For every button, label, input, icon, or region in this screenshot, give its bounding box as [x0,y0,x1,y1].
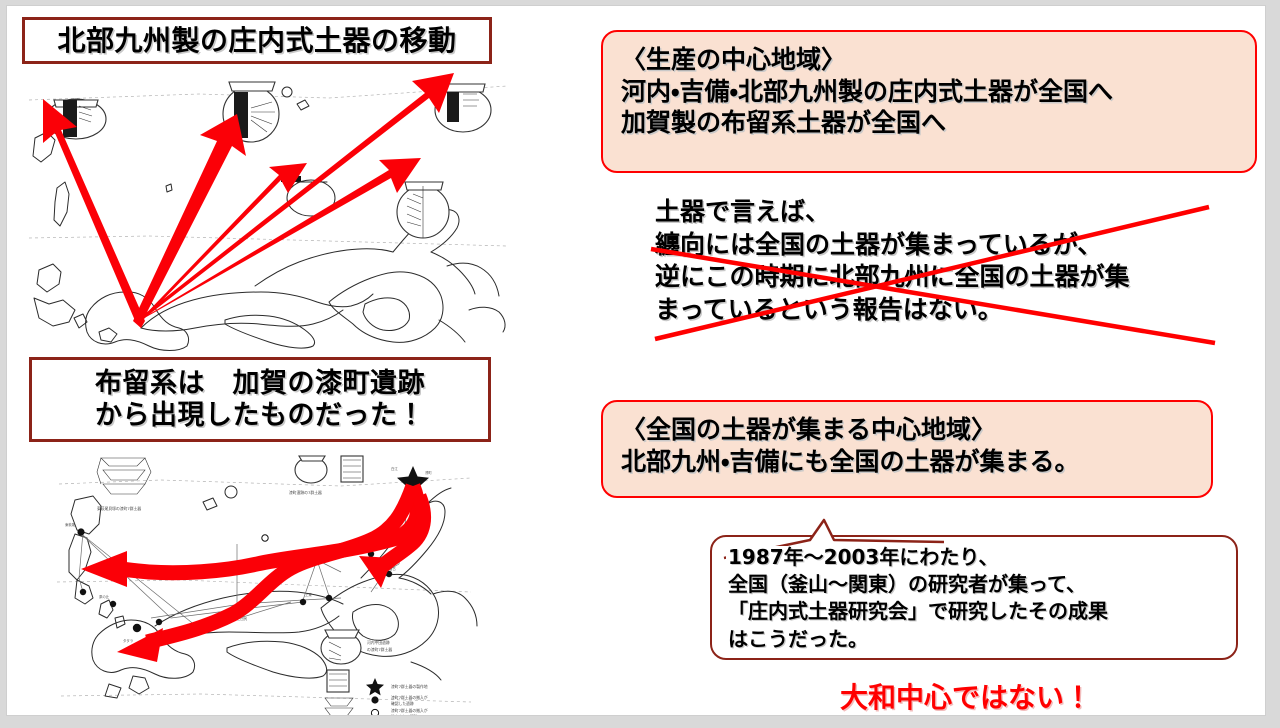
map-furu-pottery-origin: 東萩尾 原の辻 タタラ 三田尻 妻木晩田 上東 和鹿 西口 唐古 漆町 白江 東… [41,452,485,715]
callout-research-history: 1987年〜2003年にわたり、 全国（釜山〜関東）の研究者が集って、 「庄内式… [710,522,1238,660]
legend-label-0: 漆町7群土器の製作地 [391,684,428,689]
title-1-text: 北部九州製の庄内式土器の移動 [57,24,456,57]
struck-line-3: 逆にこの時期に北部九州に全国の土器が集 [655,261,1255,294]
callout-line-2: 全国（釜山〜関東）の研究者が集って、 [728,571,1228,598]
svg-text:上東: 上東 [305,592,312,597]
svg-text:漆町: 漆町 [425,470,432,475]
title-2-line-1: 布留系は 加賀の漆町遺跡 [95,368,425,400]
title-box-shonai-movement: 北部九州製の庄内式土器の移動 [22,17,492,64]
svg-text:タタラ: タタラ [123,638,133,643]
callout-text: 1987年〜2003年にわたり、 全国（釜山〜関東）の研究者が集って、 「庄内式… [728,544,1228,653]
title-2-text: 布留系は 加賀の漆町遺跡 から出現したものだった！ [95,368,425,432]
struck-line-1: 土器で言えば、 [655,196,1255,229]
box-1-line-2: 加賀製の布留系土器が全国へ [621,107,1239,139]
struck-line-4: まっているという報告はない。 [655,294,1255,327]
legend-label-1: 漆町7群土器の搬入が [391,695,428,700]
box-2-heading: 〈全国の土器が集まる中心地域〉 [621,414,1195,446]
map-2-caption-1: 東萩尾貝塚の漆町7群土器 [97,506,141,511]
vessel-sketch-bottomright [321,630,361,664]
legend-label-2: 漆町7群土器の搬入が [391,708,428,713]
map-2-caption-2: 漆町遺跡の7群土器 [289,490,322,495]
callout-line-1: 1987年〜2003年にわたり、 [728,544,1228,571]
callout-line-4: はこうだった。 [728,626,1228,653]
callout-line-3: 「庄内式土器研究会」で研究したその成果 [728,598,1228,625]
map-2-caption-3: 河内中田遺跡 [367,640,390,645]
title-box-furu-origin: 布留系は 加賀の漆町遺跡 から出現したものだった！ [29,357,491,442]
slide-canvas: 北部九州製の庄内式土器の移動 [7,6,1265,715]
struck-through-paragraph: 土器で言えば、 纏向には全国の土器が集まっているが、 逆にこの時期に北部九州に全… [655,196,1255,348]
box-production-center-region: 〈生産の中心地域〉 河内・吉備・北部九州製の庄内式土器が全国へ 加賀製の布留系土… [601,30,1257,173]
conclusion-text: 大和中心ではない！ [840,676,1092,715]
map-1-drawing [29,70,507,352]
struck-line-2: 纏向には全国の土器が集まっているが、 [655,229,1255,262]
title-2-line-2: から出現したものだった！ [95,400,425,432]
box-1-line-1: 河内・吉備・北部九州製の庄内式土器が全国へ [621,76,1239,108]
box-gathering-center-region: 〈全国の土器が集まる中心地域〉 北部九州・吉備にも全国の土器が集まる。 [601,400,1213,498]
vessel-sketch-legendtop [325,670,353,715]
map-2-legend: 漆町7群土器の製作地 漆町7群土器の搬入が 確認した遺跡 漆町7群土器の搬入が … [366,678,428,715]
box-1-heading: 〈生産の中心地域〉 [621,44,1239,76]
svg-text:確認した遺跡: 確認した遺跡 [391,701,414,706]
svg-text:原の辻: 原の辻 [99,594,110,599]
svg-text:の漆町7群土器: の漆町7群土器 [367,647,392,652]
svg-text:白江: 白江 [391,466,398,471]
svg-text:東萩尾: 東萩尾 [65,522,76,527]
map-2-drawing: 東萩尾 原の辻 タタラ 三田尻 妻木晩田 上東 和鹿 西口 唐古 漆町 白江 東… [41,452,485,715]
box-2-line-1: 北部九州・吉備にも全国の土器が集まる。 [621,446,1195,478]
svg-text:推定される遺跡: 推定される遺跡 [391,714,418,715]
map-shonai-pottery-movement [29,70,507,352]
